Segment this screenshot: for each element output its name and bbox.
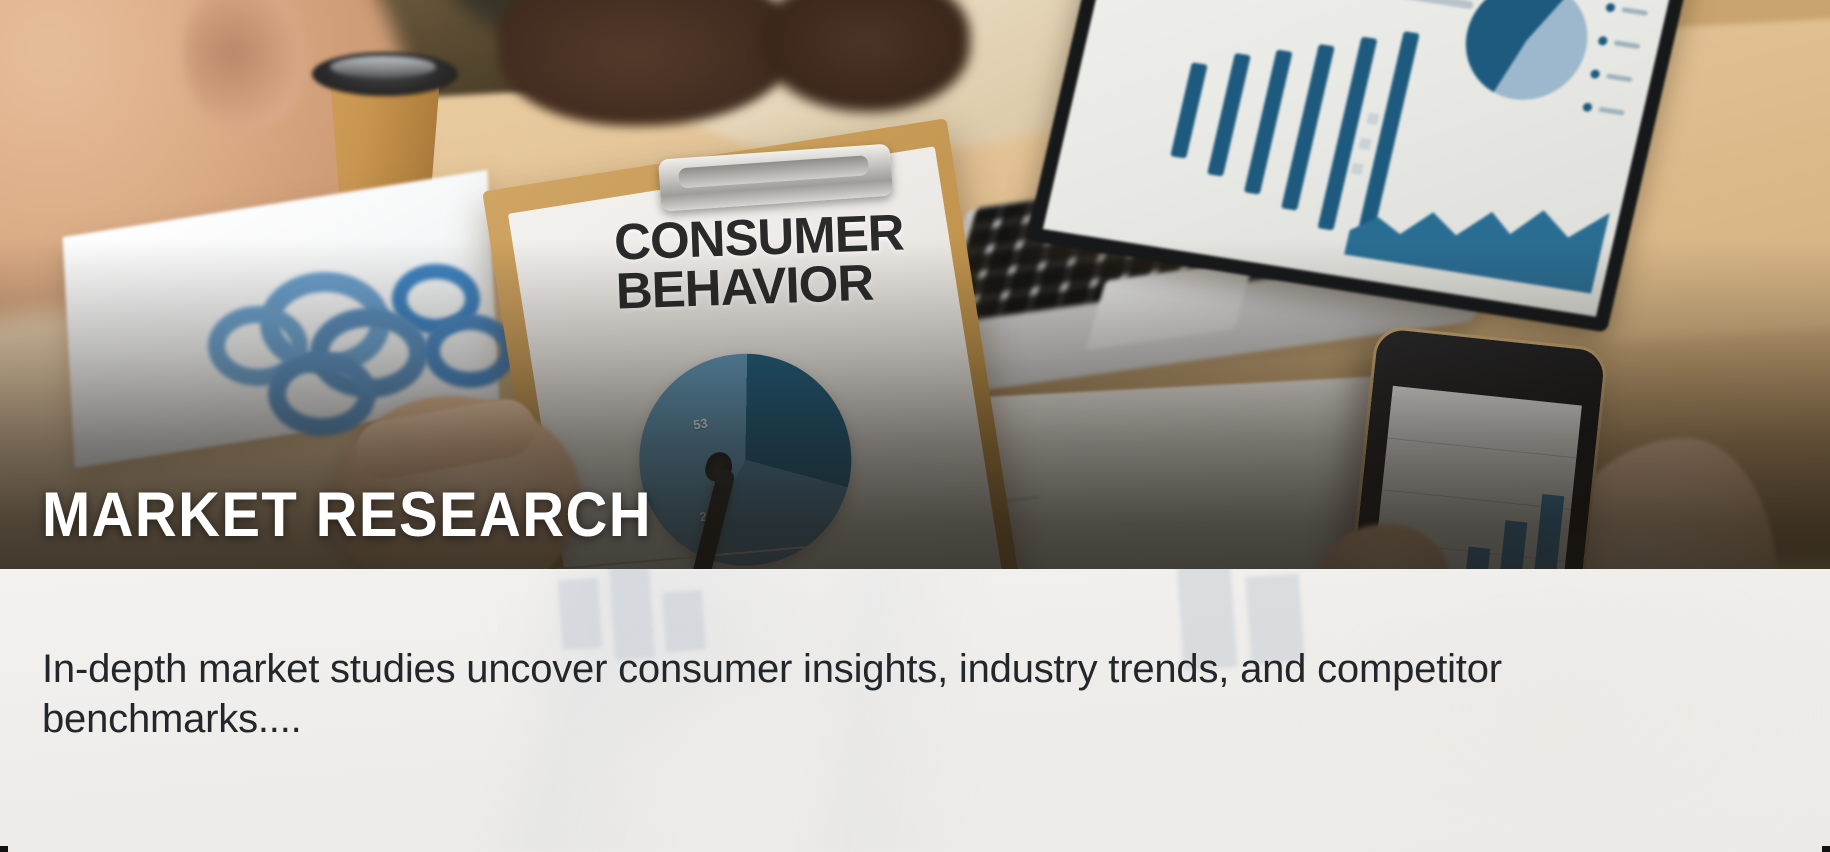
card-corner-bottom-right — [1822, 846, 1830, 852]
panel-ghost-bar-3 — [662, 590, 706, 653]
page-title: MARKET RESEARCH — [42, 484, 652, 547]
description-text: In-depth market studies uncover consumer… — [42, 645, 1522, 744]
card-corner-bottom-left — [0, 846, 8, 852]
hero-photo: CONSUMER BEHAVIOR 53 25 . — [0, 0, 1830, 569]
panel-ghost-bar-1 — [558, 578, 603, 651]
market-research-card[interactable]: CONSUMER BEHAVIOR 53 25 . — [0, 0, 1830, 852]
description-panel: In-depth market studies uncover consumer… — [0, 569, 1830, 852]
